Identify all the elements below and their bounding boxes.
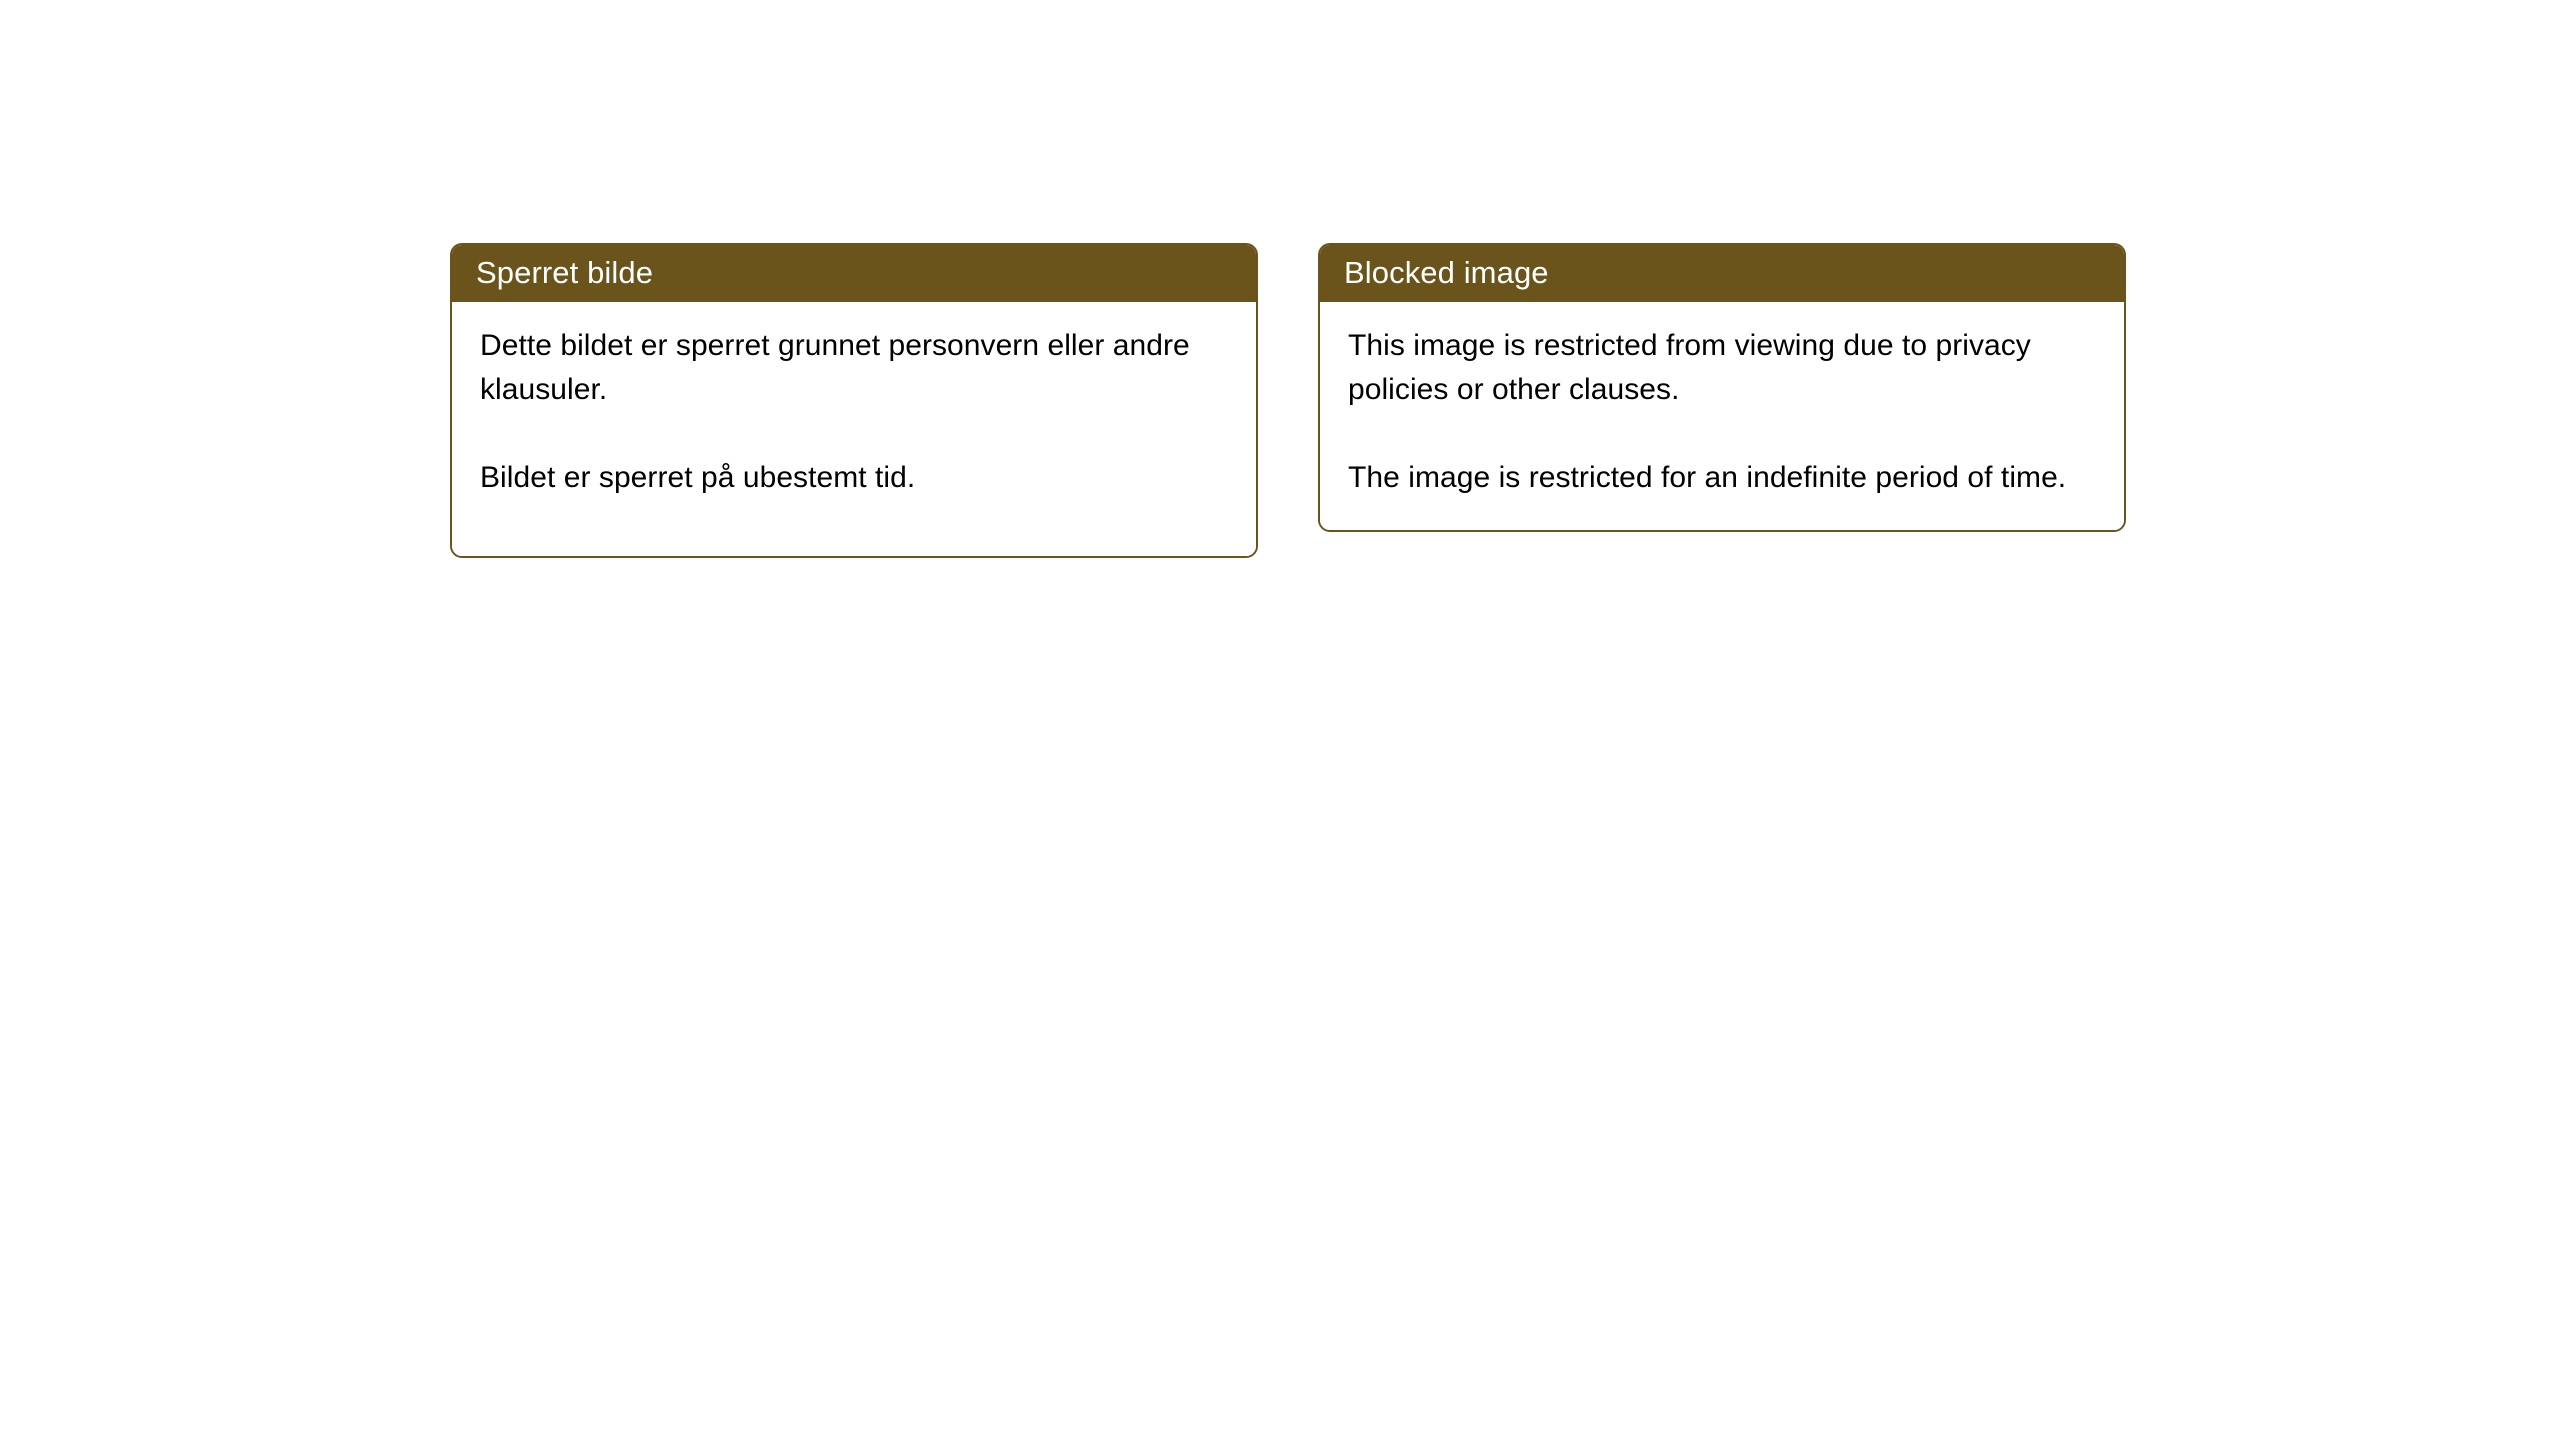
blocked-image-notice-card-norwegian: Sperret bilde Dette bildet er sperret gr… (450, 243, 1258, 558)
notice-card-body-english: This image is restricted from viewing du… (1320, 302, 2124, 530)
blocked-image-notice-group: Sperret bilde Dette bildet er sperret gr… (450, 243, 2126, 558)
notice-paragraph-reason-norwegian: Dette bildet er sperret grunnet personve… (480, 324, 1228, 412)
notice-card-body-norwegian: Dette bildet er sperret grunnet personve… (452, 302, 1256, 556)
notice-paragraph-duration-norwegian: Bildet er sperret på ubestemt tid. (480, 456, 1228, 500)
blocked-image-notice-card-english: Blocked image This image is restricted f… (1318, 243, 2126, 532)
notice-card-title-norwegian: Sperret bilde (452, 245, 1256, 302)
notice-paragraph-reason-english: This image is restricted from viewing du… (1348, 324, 2096, 412)
notice-paragraph-duration-english: The image is restricted for an indefinit… (1348, 456, 2096, 500)
notice-card-title-english: Blocked image (1320, 245, 2124, 302)
